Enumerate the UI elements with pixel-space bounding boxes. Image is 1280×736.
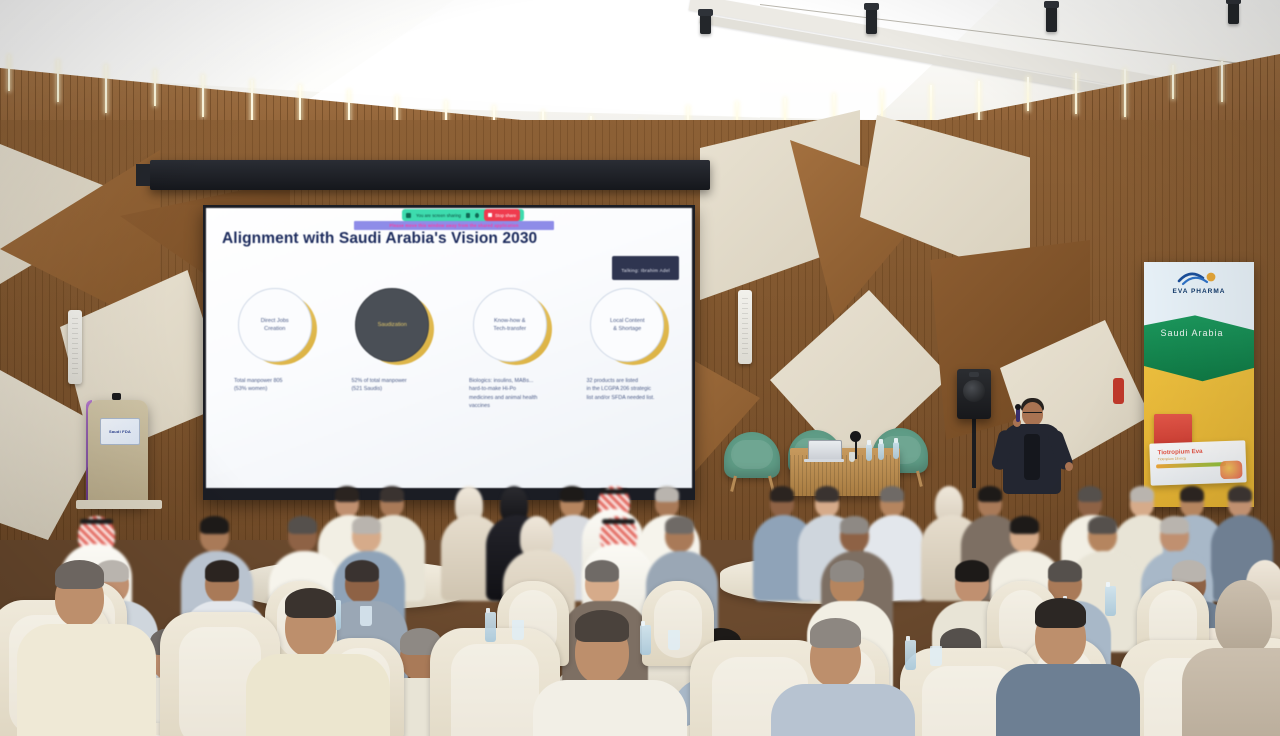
stop-share-button[interactable]: Stop share (484, 209, 520, 221)
podium-base (76, 500, 162, 509)
audience-hair (345, 560, 379, 582)
share-notice-banner: Please move this window away from the sh… (354, 221, 554, 230)
audience-hair (830, 560, 864, 582)
audience-hair (880, 486, 904, 502)
pendant-light-icon (1124, 69, 1126, 117)
pillar-circle-wrap: Direct JobsCreation (238, 288, 314, 364)
pin-icon[interactable] (475, 213, 479, 218)
product-name: Tiotropium Eva (1158, 448, 1203, 457)
saudi-flag-ribbon: Saudi Arabia (1144, 314, 1254, 384)
projector-screen-housing (150, 160, 710, 190)
speaker-woofer (963, 380, 985, 402)
stop-square-icon (488, 213, 492, 217)
audience-hair (1048, 560, 1082, 582)
hijab-headwear (1215, 580, 1272, 654)
drinking-glass (849, 452, 855, 462)
pa-speaker (957, 369, 991, 419)
pillar-caption: Total manpower 805(53% women) (232, 377, 320, 394)
wall-speaker (68, 310, 82, 384)
pillar-circle-wrap: Saudization (355, 288, 431, 364)
water-bottle (640, 625, 651, 655)
pillar-circle-wrap: Know-how &Tech-transfer (473, 288, 549, 364)
speaker-name-label: Talking: Ibrahim Adel (621, 268, 670, 273)
pendant-light-icon (105, 65, 107, 113)
audience-hair (560, 486, 584, 502)
slide-title: Alignment with Saudi Arabia's Vision 203… (222, 230, 537, 248)
water-bottle (878, 443, 884, 460)
podium-camera-icon (112, 393, 121, 400)
fire-extinguisher (1113, 378, 1124, 404)
audience-body (996, 664, 1140, 736)
pillar-item: Direct JobsCreationTotal manpower 805(53… (232, 288, 320, 411)
screen-share-toolbar[interactable]: You are screen sharing Stop share (402, 209, 524, 221)
audience-body (17, 624, 156, 736)
audience-hair (55, 560, 104, 589)
podium: Saudi FDA (88, 400, 148, 506)
audience-body (533, 680, 687, 736)
pillar-item: Saudization52% of total manpower(521 Sau… (350, 288, 438, 411)
pillar-caption: 32 products are listedin the LCGPA 206 s… (585, 377, 673, 402)
pillar-circle[interactable]: Saudization (355, 288, 429, 362)
pendant-light-icon (154, 70, 156, 106)
pendant-light-icon (202, 75, 204, 117)
pendant-light-icon (1221, 61, 1223, 102)
pendant-light-icon (1172, 65, 1174, 99)
laptop-base (804, 459, 844, 462)
igal-cord (80, 519, 113, 524)
table-microphone (850, 431, 861, 442)
banner-logo: EVA PHARMA (1144, 270, 1254, 295)
drinking-glass (930, 646, 942, 666)
water-bottle (893, 442, 899, 459)
screen-share-status: You are screen sharing (416, 213, 461, 218)
audience-hair (1172, 560, 1206, 582)
speaker-name-badge: Talking: Ibrahim Adel (612, 256, 679, 280)
audience-hair (1035, 598, 1086, 628)
product-graphic (1220, 460, 1243, 479)
audience-hair (1228, 486, 1252, 502)
screen-share-icon (406, 213, 411, 218)
pause-icon[interactable] (466, 213, 470, 218)
audience-hair (205, 560, 239, 582)
water-bottle (485, 612, 496, 642)
presenter-glasses-icon (1023, 412, 1042, 417)
share-notice-text: Please move this window away from the sh… (389, 223, 518, 228)
speaker-tweeter (969, 372, 979, 377)
pillar-circle[interactable]: Local Content& Shortage (590, 288, 664, 362)
audience-hair (352, 516, 381, 534)
audience-body (246, 654, 390, 736)
water-bottle (866, 444, 872, 461)
audience-hair (1130, 486, 1154, 502)
audience-hair (285, 588, 336, 618)
audience-hair (288, 516, 317, 534)
drinking-glass (668, 630, 680, 650)
handheld-microphone (1016, 408, 1020, 422)
pillar-label: Saudization (371, 321, 414, 329)
drinking-glass (360, 606, 372, 626)
podium-screen: Saudi FDA (100, 418, 140, 445)
audience-hair (1180, 486, 1204, 502)
pillar-caption: 52% of total manpower(521 Saudis) (350, 377, 438, 394)
wall-speaker (738, 290, 752, 364)
eva-swoosh-logo-icon (1177, 270, 1221, 286)
pendant-light-icon (299, 85, 301, 121)
product-strip (1156, 462, 1226, 468)
pillar-circle[interactable]: Know-how &Tech-transfer (473, 288, 547, 362)
pillar-circle[interactable]: Direct JobsCreation (238, 288, 312, 362)
audience-hair (585, 560, 619, 582)
pillar-label: Direct JobsCreation (254, 317, 296, 333)
audience-body (771, 684, 915, 736)
pillar-group: Direct JobsCreationTotal manpower 805(53… (232, 288, 672, 411)
pendant-light-icon (1027, 77, 1029, 111)
pillar-item: Know-how &Tech-transferBiologics: insuli… (467, 288, 555, 411)
audience-hair (840, 516, 869, 534)
audience-hair (978, 486, 1002, 502)
audience-hair (665, 516, 694, 534)
water-bottle (1105, 586, 1116, 616)
track-light-icon (700, 14, 711, 34)
drinking-glass (512, 620, 524, 640)
audience-hair (575, 610, 629, 642)
podium-logo-text: Saudi FDA (109, 429, 131, 434)
pillar-circle-wrap: Local Content& Shortage (590, 288, 666, 364)
audience-hair (815, 486, 839, 502)
track-light-icon (866, 8, 877, 34)
igal-cord (602, 519, 635, 524)
eva-brand-name: EVA PHARMA (1144, 288, 1254, 295)
speaker-stand (972, 418, 976, 488)
pendant-light-icon (57, 60, 59, 102)
pendant-light-icon (1075, 73, 1077, 114)
pillar-label: Know-how &Tech-transfer (486, 317, 533, 333)
track-light-icon (1228, 2, 1239, 24)
pillar-caption: Biologics: insulins, MABs...hard-to-make… (467, 377, 555, 411)
igal-cord (600, 489, 628, 494)
audience-hair (810, 618, 861, 648)
eva-pharma-banner: EVA PHARMA Saudi Arabia Tiotropium Eva T… (1144, 262, 1254, 507)
audience-hair (1078, 486, 1102, 502)
product-subtitle: Tiotropium 18 mcg (1158, 456, 1186, 461)
pillar-item: Local Content& Shortage32 products are l… (585, 288, 673, 411)
audience-hair (335, 486, 359, 502)
projected-slide: You are screen sharing Stop share Please… (206, 208, 692, 488)
conference-room-photo: You are screen sharing Stop share Please… (0, 0, 1280, 736)
audience-hair (380, 486, 404, 502)
audience-hair (655, 486, 679, 502)
audience-hair (770, 486, 794, 502)
audience-hair (1088, 516, 1117, 534)
pendant-light-icon (8, 55, 10, 91)
flag-text: Saudi Arabia (1146, 328, 1238, 338)
stop-share-label: Stop share (495, 213, 516, 218)
audience-body (1182, 648, 1280, 736)
audience-hair (1160, 516, 1189, 534)
presenter-hand-right (1065, 462, 1073, 471)
audience-hair (1010, 516, 1039, 534)
pillar-label: Local Content& Shortage (603, 317, 652, 333)
presenter-shirt (1024, 434, 1040, 480)
water-bottle (905, 640, 916, 670)
product-box-white: Tiotropium Eva Tiotropium 18 mcg (1149, 440, 1246, 485)
audience-hair (200, 516, 229, 534)
track-light-icon (1046, 6, 1057, 32)
audience-hair (955, 560, 989, 582)
